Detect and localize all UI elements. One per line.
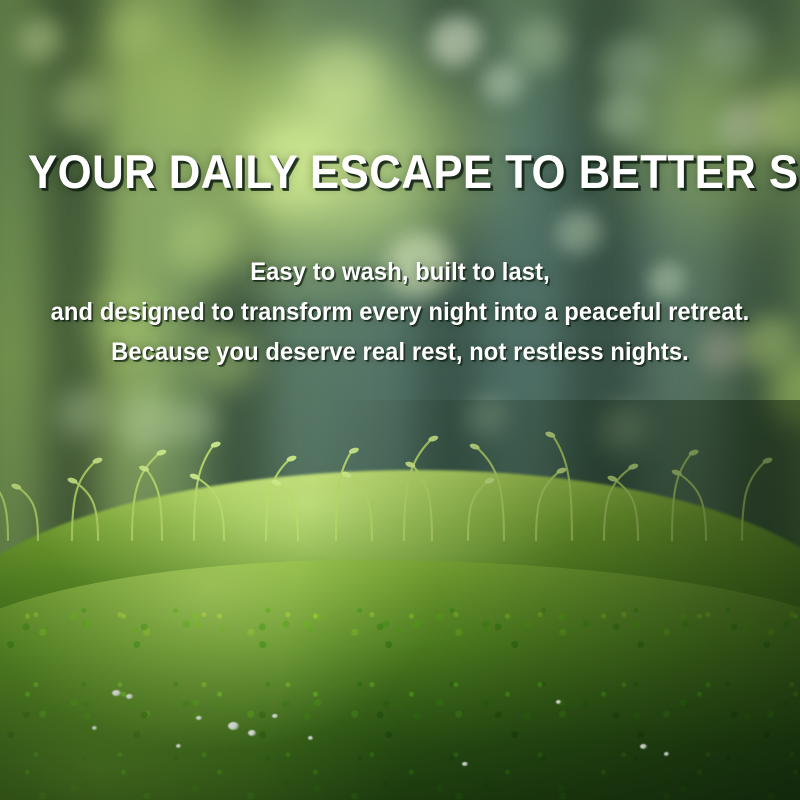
sporophyte-stalk [468, 477, 495, 540]
sporophyte-stalk [0, 469, 8, 540]
subcopy-line: and designed to transform every night in… [20, 292, 780, 332]
sporophyte-stalk [545, 431, 572, 540]
dew-droplet [664, 752, 669, 756]
dew-droplet [92, 726, 97, 730]
dew-droplet [112, 690, 121, 696]
sporophyte-stalk [405, 461, 432, 540]
sporophyte-stalk [271, 479, 298, 540]
subcopy-line: Easy to wash, built to last, [20, 252, 780, 292]
bokeh-disc [430, 16, 484, 70]
page-title: YOUR DAILY ESCAPE TO BETTER SLEEP [28, 146, 772, 198]
dew-droplet [308, 736, 313, 740]
sporophyte-stalk [266, 455, 297, 540]
bokeh-disc [482, 62, 526, 106]
bokeh-disc [600, 36, 662, 98]
moss-texture [0, 560, 800, 800]
sporophyte-stalk [404, 435, 439, 540]
bokeh-disc [52, 76, 112, 136]
sporophyte-stalk [11, 483, 38, 540]
moss-sporophyte-stalks [0, 410, 800, 540]
hero-banner: YOUR DAILY ESCAPE TO BETTER SLEEP Easy t… [0, 0, 800, 800]
dew-droplet [272, 714, 278, 718]
sporophyte-stalk [341, 471, 372, 540]
sporophyte-stalk [336, 447, 360, 540]
subcopy: Easy to wash, built to last, and designe… [20, 252, 780, 372]
bokeh-disc [110, 6, 162, 58]
sporophyte-stalk [194, 441, 221, 540]
dew-droplet [556, 700, 561, 704]
dew-droplet [228, 722, 239, 730]
sporophyte-stalk [607, 475, 638, 540]
sporophyte-stalk [742, 457, 773, 540]
bokeh-disc [702, 16, 762, 76]
dew-droplet [462, 762, 468, 766]
subcopy-line: Because you deserve real rest, not restl… [20, 332, 780, 372]
dew-droplet [176, 744, 181, 748]
bokeh-disc [556, 210, 604, 258]
bokeh-disc [18, 18, 64, 64]
dew-droplet [640, 744, 647, 749]
moss-mound-front [0, 560, 800, 800]
dew-droplet [126, 694, 133, 699]
bokeh-disc [598, 90, 650, 142]
bokeh-disc [512, 18, 570, 76]
moss-foreground [0, 400, 800, 800]
sporophyte-stalk [536, 467, 567, 540]
dew-droplet [196, 716, 202, 720]
sporophyte-stalk [672, 449, 699, 540]
sporophyte-stalk [671, 469, 706, 540]
dew-droplet [248, 730, 256, 736]
sporophyte-stalk [469, 443, 504, 540]
bokeh-disc [300, 40, 388, 128]
